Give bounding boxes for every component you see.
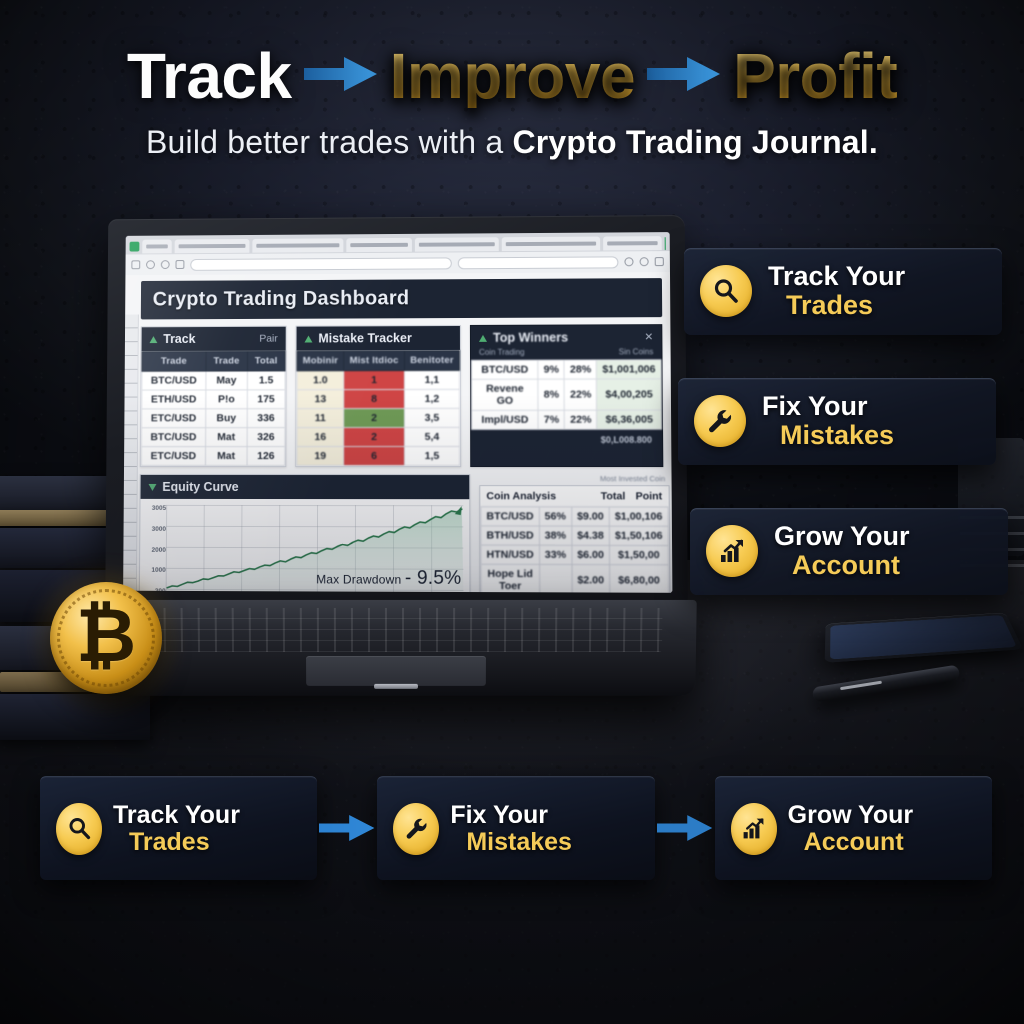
cell-side: Mat — [205, 428, 247, 447]
browser-tab[interactable] — [603, 236, 662, 250]
home-icon[interactable] — [176, 260, 185, 269]
cell-pair: Revene GO — [472, 379, 539, 410]
track-panel: Track Pair Trade Trade Total BT — [140, 326, 287, 467]
step-line2: Mistakes — [450, 829, 572, 855]
cell-pair: BTC/USD — [141, 428, 205, 447]
cell-pct: 38% — [539, 526, 571, 545]
table-row: Hope Lid Toer $2.00 $6,80,00 — [481, 564, 669, 593]
spreadsheet-row-gutter — [123, 315, 139, 591]
max-drawdown-annotation: Max Drawdown - 9.5% — [316, 567, 461, 590]
cell-amount: $6,36,005 — [597, 410, 662, 429]
step-line1: Fix Your — [450, 802, 572, 828]
overflow-menu-icon[interactable] — [655, 257, 664, 266]
coin-col-total: Total — [601, 490, 626, 502]
cell-total: $9.00 — [571, 507, 609, 526]
cell-coin: BTC/USD — [481, 507, 539, 526]
laptop-keyboard[interactable] — [129, 608, 662, 652]
feature-card-fix-mistakes[interactable]: Fix Your Mistakes — [678, 378, 996, 465]
cell-pair: Impl/USD — [472, 410, 539, 429]
table-row: Revene GO 8% 22% $4,00,205 — [472, 379, 662, 411]
step-line2: Account — [788, 829, 913, 855]
cell-count: 11 — [297, 409, 344, 428]
column-header: Mobinir — [297, 351, 344, 371]
column-header: Total — [247, 351, 285, 371]
y-tick: 3005 — [142, 505, 166, 512]
laptop-trackpad[interactable] — [306, 656, 486, 686]
cell-profit: $1,50,106 — [609, 526, 668, 545]
cell-total: $4.38 — [572, 526, 610, 545]
search-box[interactable] — [458, 256, 619, 269]
cell-severity: 2 — [344, 427, 405, 446]
browser-tab[interactable] — [415, 237, 499, 251]
step-grow-account[interactable]: Grow Your Account — [715, 776, 992, 880]
cell-ratio: 3,5 — [404, 408, 459, 427]
mistake-tracker-panel: Mistake Tracker Mobinir Mist Itdioc Beni… — [295, 325, 461, 467]
cell-severity: 8 — [344, 390, 405, 409]
column-header: Mist Itdioc — [344, 351, 405, 371]
arrow-right-icon — [304, 54, 378, 94]
cell-pct: 8% — [538, 379, 565, 410]
browser-chrome — [125, 232, 670, 275]
cell-count: 19 — [297, 447, 344, 466]
chart-y-axis: 3005 3000 2000 1000 200 — [142, 505, 166, 593]
cell-ratio: 1,2 — [404, 389, 459, 408]
y-tick: 200 — [142, 588, 166, 593]
cell-profit: $6,80,00 — [610, 565, 669, 593]
cell-pct — [539, 564, 572, 592]
magnifier-icon — [700, 265, 752, 317]
laptop-latch — [374, 684, 418, 689]
cell-pair: ETC/USD — [141, 447, 205, 466]
wrench-icon — [393, 803, 439, 855]
headline-block: Track Improve Profit Build better trades… — [0, 44, 1024, 161]
cell-pct: 33% — [539, 545, 572, 564]
subheadline-bold: Crypto Trading Journal. — [512, 124, 878, 160]
cell-coin: Hope Lid Toer — [481, 564, 539, 593]
cell-profit: $1,00,106 — [609, 507, 668, 526]
cell-pct: 9% — [538, 360, 564, 379]
cell-severity: 6 — [344, 447, 405, 466]
mistake-table: Mobinir Mist Itdioc Benitoter 1.0 1 1,1 — [296, 350, 460, 466]
address-bar[interactable] — [190, 257, 452, 270]
cell-side: May — [206, 371, 248, 390]
cell-pct2: 22% — [565, 410, 597, 429]
drawdown-value: - 9.5% — [405, 568, 461, 589]
step-line1: Track Your — [113, 802, 240, 828]
step-text: Grow Your Account — [788, 802, 913, 855]
back-arrow-icon[interactable] — [131, 260, 140, 269]
track-panel-header: Track Pair — [142, 327, 286, 351]
equity-chart: 3005 3000 2000 1000 200 — [140, 499, 470, 593]
table-row: BTC/USD 9% 28% $1,001,006 — [472, 360, 662, 380]
cell-pair: ETH/USD — [142, 390, 206, 409]
cell-severity: 1 — [344, 371, 405, 390]
cell-severity: 2 — [344, 408, 405, 427]
cell-total: $2.00 — [572, 565, 610, 593]
cell-profit: $1,50,00 — [609, 545, 668, 564]
winners-sub-right: Sin Coins — [619, 347, 654, 356]
table-header-row: Trade Trade Total — [142, 351, 285, 371]
cell-count: 1.0 — [297, 371, 344, 390]
equity-curve-panel: Equity Curve 3005 3000 2000 1000 200 — [138, 474, 470, 593]
dashboard-bottom-row: Equity Curve 3005 3000 2000 1000 200 — [138, 474, 665, 593]
subheadline: Build better trades with a Crypto Tradin… — [0, 124, 1024, 161]
profile-icon[interactable] — [640, 257, 649, 266]
feature-card-line2: Trades — [768, 291, 905, 320]
equity-panel-title: Equity Curve — [162, 480, 238, 494]
table-row: ETC/USD Mat 126 — [141, 447, 285, 466]
step-fix-mistakes[interactable]: Fix Your Mistakes — [377, 776, 654, 880]
y-tick: 1000 — [142, 567, 166, 574]
browser-share-button[interactable] — [665, 237, 666, 250]
feature-card-text: Fix Your Mistakes — [762, 392, 894, 450]
feature-card-track-trades[interactable]: Track Your Trades — [684, 248, 1002, 335]
laptop-screen[interactable]: Crypto Trading Dashboard Track Pair — [123, 232, 672, 593]
cell-total: 336 — [247, 409, 285, 428]
growth-chart-icon — [731, 803, 777, 855]
dashboard-top-row: Track Pair Trade Trade Total BT — [140, 324, 664, 467]
laptop-base — [95, 600, 697, 696]
browser-tab[interactable] — [346, 238, 412, 252]
cell-amount: $1,001,006 — [597, 360, 661, 379]
arrow-right-icon-step-2 — [655, 811, 715, 845]
subheadline-light: Build better trades with a — [146, 124, 512, 160]
feature-card-line1: Grow Your — [774, 522, 910, 551]
cell-coin: HTN/USD — [481, 545, 539, 564]
cell-total: 1.5 — [247, 371, 285, 390]
column-header: Trade — [206, 351, 248, 371]
coin-analysis-table: BTC/USD 56% $9.00 $1,00,106 BTH/USD 38% … — [480, 506, 669, 593]
cell-side: Mat — [205, 447, 247, 466]
top-winners-panel: Top Winners ✕ Coin Trading Sin Coins BTC… — [470, 324, 663, 467]
steps-strip: Track Your Trades Fix Your Mistakes — [40, 776, 992, 880]
coin-analysis-header: Coin Analysis Total Point — [480, 486, 668, 506]
table-row: 16 2 5,4 — [297, 427, 460, 446]
y-tick: 3000 — [142, 526, 166, 533]
cell-ratio: 1,1 — [404, 370, 459, 389]
laptop-lid: Crypto Trading Dashboard Track Pair — [105, 215, 688, 610]
laptop: Crypto Trading Dashboard Track Pair — [96, 216, 696, 716]
browser-tab[interactable] — [252, 238, 343, 252]
table-row: BTC/USD Mat 326 — [141, 428, 285, 447]
winners-sub-left: Coin Trading — [479, 348, 525, 357]
triangle-up-icon — [304, 335, 312, 342]
star-icon[interactable] — [624, 257, 633, 266]
column-header: Trade — [142, 351, 206, 371]
headline-word-improve: Improve — [390, 44, 635, 108]
step-text: Track Your Trades — [113, 802, 240, 855]
winners-footer-total: $0,L008.800 — [471, 430, 662, 452]
feature-card-line2: Mistakes — [762, 421, 894, 450]
winners-panel-header: Top Winners ✕ — [471, 325, 661, 347]
table-row: ETC/USD Buy 336 — [142, 409, 285, 428]
dashboard-title: Crypto Trading Dashboard — [141, 278, 662, 319]
y-tick: 2000 — [142, 546, 166, 553]
table-row: ETH/USD P!o 175 — [142, 390, 285, 409]
dashboard-page: Crypto Trading Dashboard Track Pair — [123, 272, 672, 593]
step-line2: Trades — [113, 829, 240, 855]
column-header: Benitoter — [404, 350, 459, 370]
poster-canvas: Track Improve Profit Build better trades… — [0, 0, 1024, 1024]
equity-panel-header: Equity Curve — [141, 475, 470, 499]
browser-tab[interactable] — [175, 239, 250, 253]
table-header-row: Mobinir Mist Itdioc Benitoter — [297, 350, 460, 370]
cell-ratio: 1,5 — [404, 446, 459, 465]
browser-tab[interactable] — [502, 237, 600, 252]
cell-pct2: 22% — [564, 379, 596, 410]
coin-analysis-title: Coin Analysis — [486, 490, 556, 502]
winners-subheader: Coin Trading Sin Coins — [471, 346, 662, 360]
arrow-right-icon-step-1 — [317, 811, 377, 845]
wrench-icon — [694, 395, 746, 447]
coin-analysis-panel: Most Invested Coin Coin Analysis Total P… — [479, 474, 670, 593]
cell-total: 175 — [247, 390, 285, 409]
triangle-up-icon — [479, 334, 487, 341]
coin-analysis-card: Coin Analysis Total Point BTC/USD 56% $9… — [479, 485, 670, 593]
cell-pair: ETC/USD — [142, 409, 206, 428]
cell-total: 126 — [247, 447, 285, 466]
magnifier-icon — [56, 803, 102, 855]
cell-pct: 56% — [539, 507, 571, 526]
bitcoin-symbol: ₿ — [76, 599, 136, 673]
table-row: Impl/USD 7% 22% $6,36,005 — [472, 410, 662, 429]
winners-table: BTC/USD 9% 28% $1,001,006 Revene GO 8% 2… — [471, 359, 662, 430]
track-panel-subtitle: Pair — [259, 333, 278, 345]
reload-icon[interactable] — [161, 260, 170, 269]
coin-col-profit: Point — [635, 490, 662, 502]
table-row: 11 2 3,5 — [297, 408, 460, 427]
cell-side: Buy — [205, 409, 247, 428]
cell-count: 16 — [297, 428, 344, 447]
headline-word-profit: Profit — [733, 44, 897, 108]
arrow-right-icon-2 — [647, 54, 721, 94]
table-row: BTC/USD May 1.5 — [142, 371, 285, 390]
feature-card-line1: Fix Your — [762, 392, 894, 421]
track-panel-title: Track — [163, 332, 195, 346]
step-track-trades[interactable]: Track Your Trades — [40, 776, 317, 880]
cell-amount: $4,00,205 — [597, 379, 662, 410]
cell-total: 326 — [247, 428, 285, 447]
headline-word-track: Track — [127, 44, 292, 108]
browser-tab[interactable] — [142, 239, 172, 253]
track-table: Trade Trade Total BTC/USD May 1.5 — [141, 351, 286, 467]
table-row: 1.0 1 1,1 — [297, 370, 460, 389]
feature-card-text: Track Your Trades — [768, 262, 905, 320]
growth-chart-icon — [706, 525, 758, 577]
mistake-panel-title: Mistake Tracker — [318, 331, 411, 345]
step-text: Fix Your Mistakes — [450, 802, 572, 855]
sheets-favicon — [130, 242, 140, 252]
cell-pct2: 28% — [564, 360, 596, 379]
feature-card-line2: Account — [774, 551, 910, 580]
cell-side: P!o — [206, 390, 248, 409]
drawdown-label: Max Drawdown — [316, 572, 401, 586]
cell-ratio: 5,4 — [404, 427, 459, 446]
cell-total: $6.00 — [572, 545, 610, 564]
mistake-panel-header: Mistake Tracker — [297, 326, 460, 350]
cell-pct: 7% — [538, 410, 564, 429]
triangle-up-icon — [149, 336, 157, 343]
cell-coin: BTH/USD — [481, 526, 539, 545]
feature-card-line1: Track Your — [768, 262, 905, 291]
table-row: BTH/USD 38% $4.38 $1,50,106 — [481, 526, 668, 546]
bitcoin-coin: ₿ — [50, 582, 162, 694]
cell-pair: BTC/USD — [142, 371, 206, 390]
table-row: 13 8 1,2 — [297, 389, 460, 408]
forward-arrow-icon[interactable] — [146, 260, 155, 269]
feature-card-grow-account[interactable]: Grow Your Account — [690, 508, 1008, 595]
headline: Track Improve Profit — [0, 44, 1024, 108]
step-line1: Grow Your — [788, 802, 913, 828]
feature-card-text: Grow Your Account — [774, 522, 910, 580]
coin-panel-note: Most Invested Coin — [479, 474, 669, 485]
table-row: 19 6 1,5 — [297, 446, 460, 465]
cell-count: 13 — [297, 390, 344, 409]
close-icon[interactable]: ✕ — [644, 331, 653, 343]
cell-pair: BTC/USD — [472, 360, 539, 379]
winners-panel-title: Top Winners — [493, 331, 568, 345]
triangle-down-icon — [149, 483, 157, 490]
table-row: HTN/USD 33% $6.00 $1,50,00 — [481, 545, 668, 565]
table-row: BTC/USD 56% $9.00 $1,00,106 — [481, 507, 668, 526]
